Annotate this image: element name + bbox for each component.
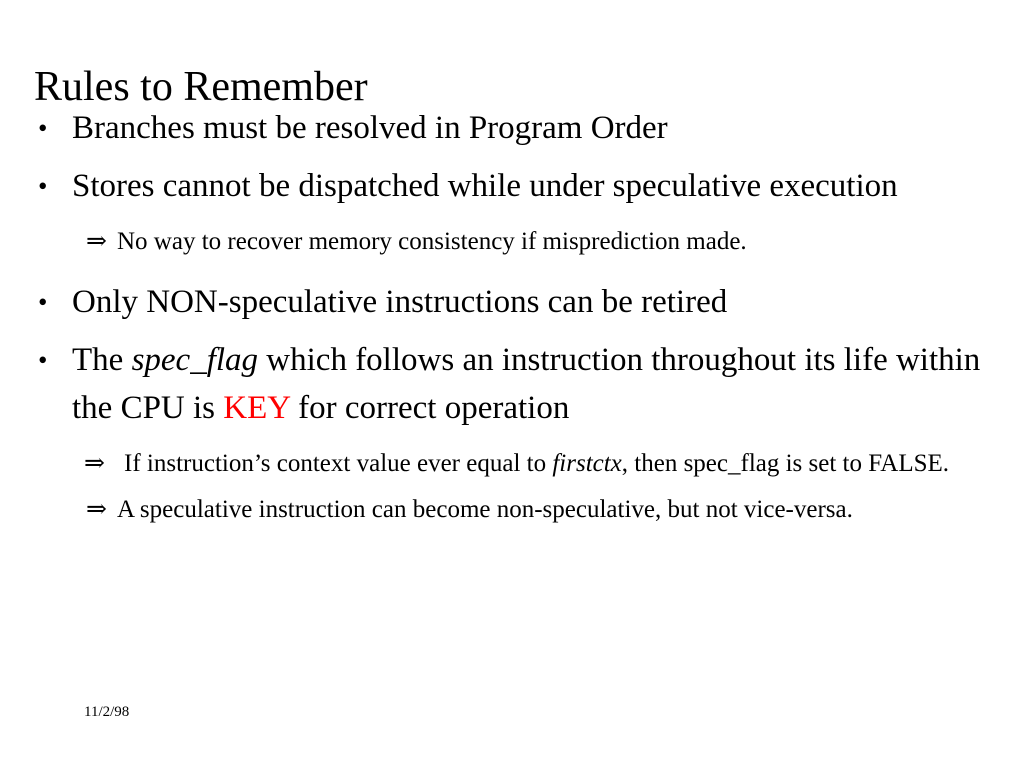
list-item: • Only NON-speculative instructions can …: [0, 278, 1000, 326]
double-arrow-icon: ⇒: [86, 224, 107, 260]
bullet-icon: •: [38, 104, 47, 152]
bullet-icon: •: [38, 278, 47, 326]
spacer: [0, 432, 1000, 446]
sub-list-item: ⇒ No way to recover memory consistency i…: [0, 224, 1000, 260]
list-item-text: Only NON-speculative instructions can be…: [72, 278, 1000, 326]
list-item-text: The spec_flag which follows an instructi…: [72, 336, 1000, 432]
list-item: • Stores cannot be dispatched while unde…: [0, 162, 1000, 210]
text-run-plain: If instruction’s context value ever equa…: [124, 450, 552, 477]
spacer: [0, 152, 1000, 162]
list-item: • The spec_flag which follows an instruc…: [0, 336, 1000, 432]
bullet-icon: •: [38, 336, 47, 384]
spacer: [0, 482, 1000, 492]
bullet-icon: •: [38, 162, 47, 210]
slide-canvas: Rules to Remember • Branches must be res…: [0, 0, 1024, 768]
list-item-text: Stores cannot be dispatched while under …: [72, 162, 1000, 210]
double-arrow-icon: ⇒: [86, 492, 107, 528]
slide-body-list: • Branches must be resolved in Program O…: [0, 104, 1000, 528]
list-item-text: Branches must be resolved in Program Ord…: [72, 104, 1000, 152]
double-arrow-icon: ⇒: [84, 446, 105, 482]
text-run-key-highlight: KEY: [223, 390, 290, 426]
spacer: [0, 210, 1000, 224]
text-run-plain: , then spec_flag is set to FALSE.: [622, 450, 949, 477]
sub-list-item-text: A speculative instruction can become non…: [117, 496, 853, 523]
text-run-plain: The: [72, 342, 132, 378]
spacer: [0, 260, 1000, 278]
sub-list-item-text: If instruction’s context value ever equa…: [124, 450, 949, 477]
list-item: • Branches must be resolved in Program O…: [0, 104, 1000, 152]
text-run-italic-spec-flag: spec_flag: [132, 342, 258, 378]
sub-list-item-text: No way to recover memory consistency if …: [117, 228, 747, 255]
sub-list-item: ⇒ A speculative instruction can become n…: [0, 492, 1000, 528]
text-run-plain: for correct operation: [290, 390, 569, 426]
text-run-italic-firstctx: firstctx: [552, 450, 621, 477]
sub-list-item: ⇒ If instruction’s context value ever eq…: [0, 446, 1000, 482]
footer-date: 11/2/98: [84, 703, 129, 721]
spacer: [0, 326, 1000, 336]
